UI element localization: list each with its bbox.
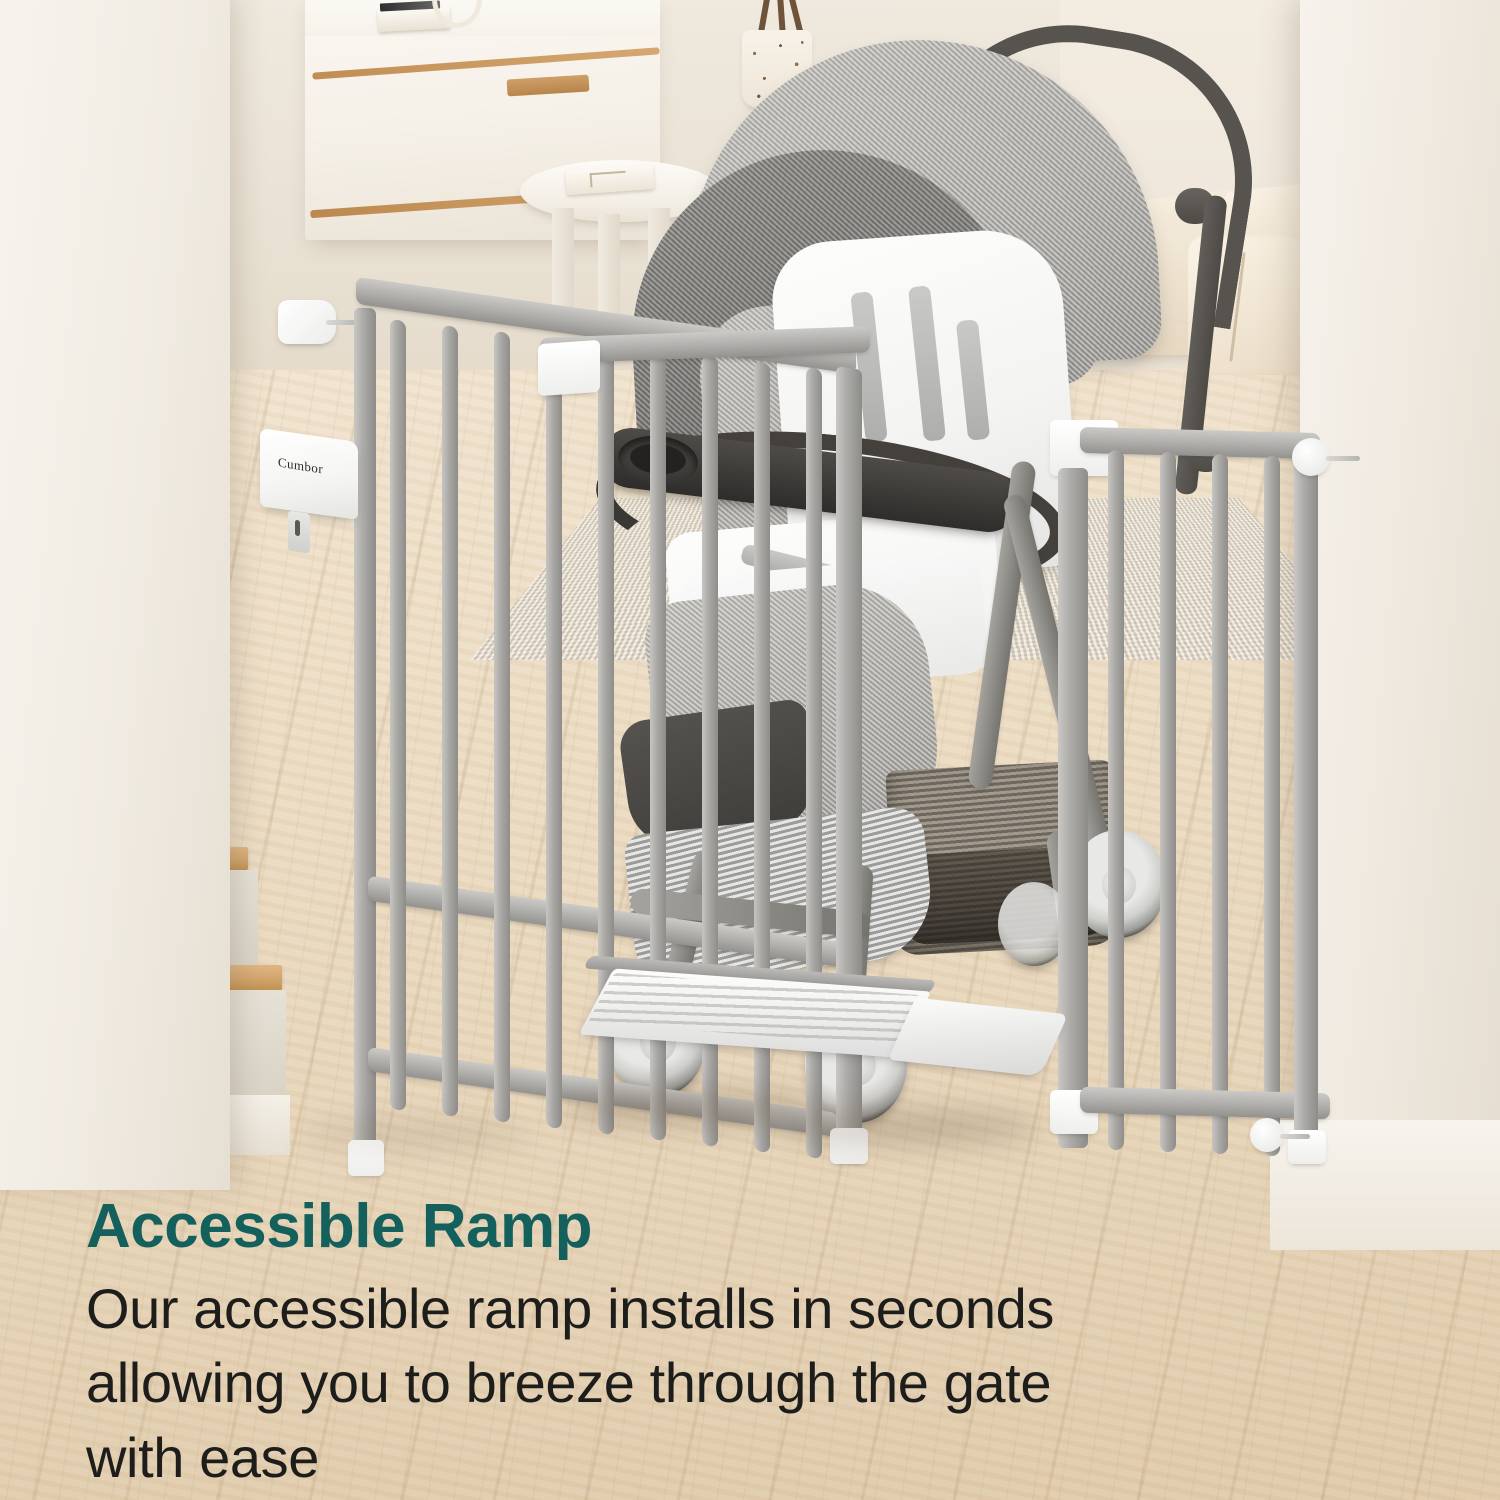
gate-mount-pin-top-right (1326, 456, 1360, 461)
floor-shadow (300, 1120, 530, 1148)
floor-shadow (560, 1090, 820, 1126)
gate-right-bar (1108, 450, 1124, 1150)
ramp-wedge (888, 998, 1068, 1077)
right-wall-column (1300, 0, 1500, 1220)
page-title: Accessible Ramp (86, 1196, 1146, 1258)
gate-corner-cap-left (538, 340, 600, 396)
gate-post-left (354, 308, 376, 1169)
gate-right-bar (1160, 452, 1176, 1152)
gate-right-bar (1264, 456, 1280, 1156)
gate-door-bar (442, 325, 458, 1117)
gate-mount-pin-bottom-right (1280, 1134, 1310, 1139)
caption-body: Our accessible ramp installs in seconds … (86, 1272, 1146, 1495)
product-photo-scene: Cumbor Accessible Ramp Our ac (0, 0, 1500, 1500)
gate-latch-slot (295, 520, 300, 537)
floor-shadow (780, 1110, 1040, 1144)
gate-right-bar (1212, 454, 1228, 1154)
gate-door-bar (494, 331, 510, 1123)
gate-mount-knob-top-right[interactable] (1292, 438, 1330, 476)
gate-door-bar (390, 319, 406, 1111)
gate-door-bar (546, 337, 562, 1129)
gate-mount-knob-bottom-right[interactable] (1250, 1118, 1284, 1152)
gate-post-right (1294, 456, 1318, 1156)
baby-safety-gate[interactable]: Cumbor (250, 290, 1320, 1170)
caption-block: Accessible Ramp Our accessible ramp inst… (86, 1196, 1146, 1495)
gate-post-center (1058, 468, 1088, 1148)
left-wall-column (0, 0, 230, 1190)
